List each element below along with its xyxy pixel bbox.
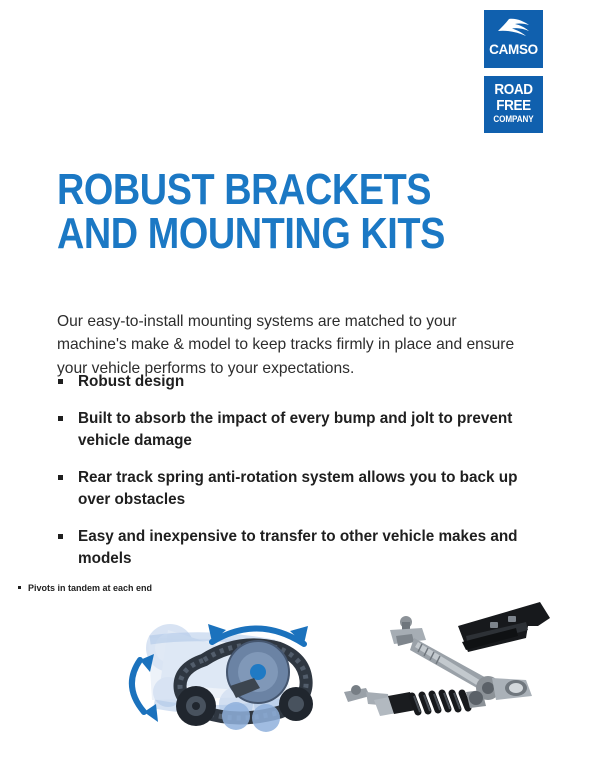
camso-swoosh-icon [494,17,534,39]
roadfree-line-1: ROAD [487,82,540,98]
page-title: ROBUST BRACKETS AND MOUNTING KITS [57,168,517,256]
camso-wordmark: CAMSO [489,42,538,57]
brand-logo-stack: CAMSO ROAD FREE COMPANY [484,10,544,133]
list-item-label: Built to absorb the impact of every bump… [78,408,527,452]
road-wheel-rear [279,687,313,721]
square-bullet-icon [58,534,63,539]
page-title-line-1: ROBUST BRACKETS [57,168,453,212]
camso-logo: CAMSO [484,10,543,68]
figure-caption-label: Pivots in tandem at each end [28,583,152,593]
ghost-wheel [252,704,280,732]
list-item-label: Robust design [78,371,527,393]
page-title-line-2: AND MOUNTING KITS [57,212,453,256]
square-bullet-icon [18,586,21,589]
road-free-company-logo: ROAD FREE COMPANY [484,76,543,133]
square-bullet-icon [58,475,63,480]
square-bullet-icon [58,379,63,384]
square-bullet-icon [58,416,63,421]
mounting-hardware-illustration [340,596,550,731]
list-item: Built to absorb the impact of every bump… [57,408,527,452]
spring-assembly [344,685,486,716]
figure-caption: Pivots in tandem at each end [18,582,152,594]
list-item: Easy and inexpensive to transfer to othe… [57,526,527,570]
roadfree-line-3: COMPANY [487,114,540,125]
ghost-wheel [222,702,250,730]
black-bracket [458,602,550,652]
road-wheel-front [176,686,216,726]
roadfree-line-2: FREE [487,98,540,114]
feature-list: Robust design Built to absorb the impact… [57,371,527,585]
figure-area [0,596,600,736]
list-item: Robust design [57,371,527,393]
list-item-label: Rear track spring anti-rotation system a… [78,467,527,511]
track-system-illustration [108,600,338,735]
intro-paragraph: Our easy-to-install mounting systems are… [57,310,527,381]
list-item: Rear track spring anti-rotation system a… [57,467,527,511]
list-item-label: Easy and inexpensive to transfer to othe… [78,526,527,570]
